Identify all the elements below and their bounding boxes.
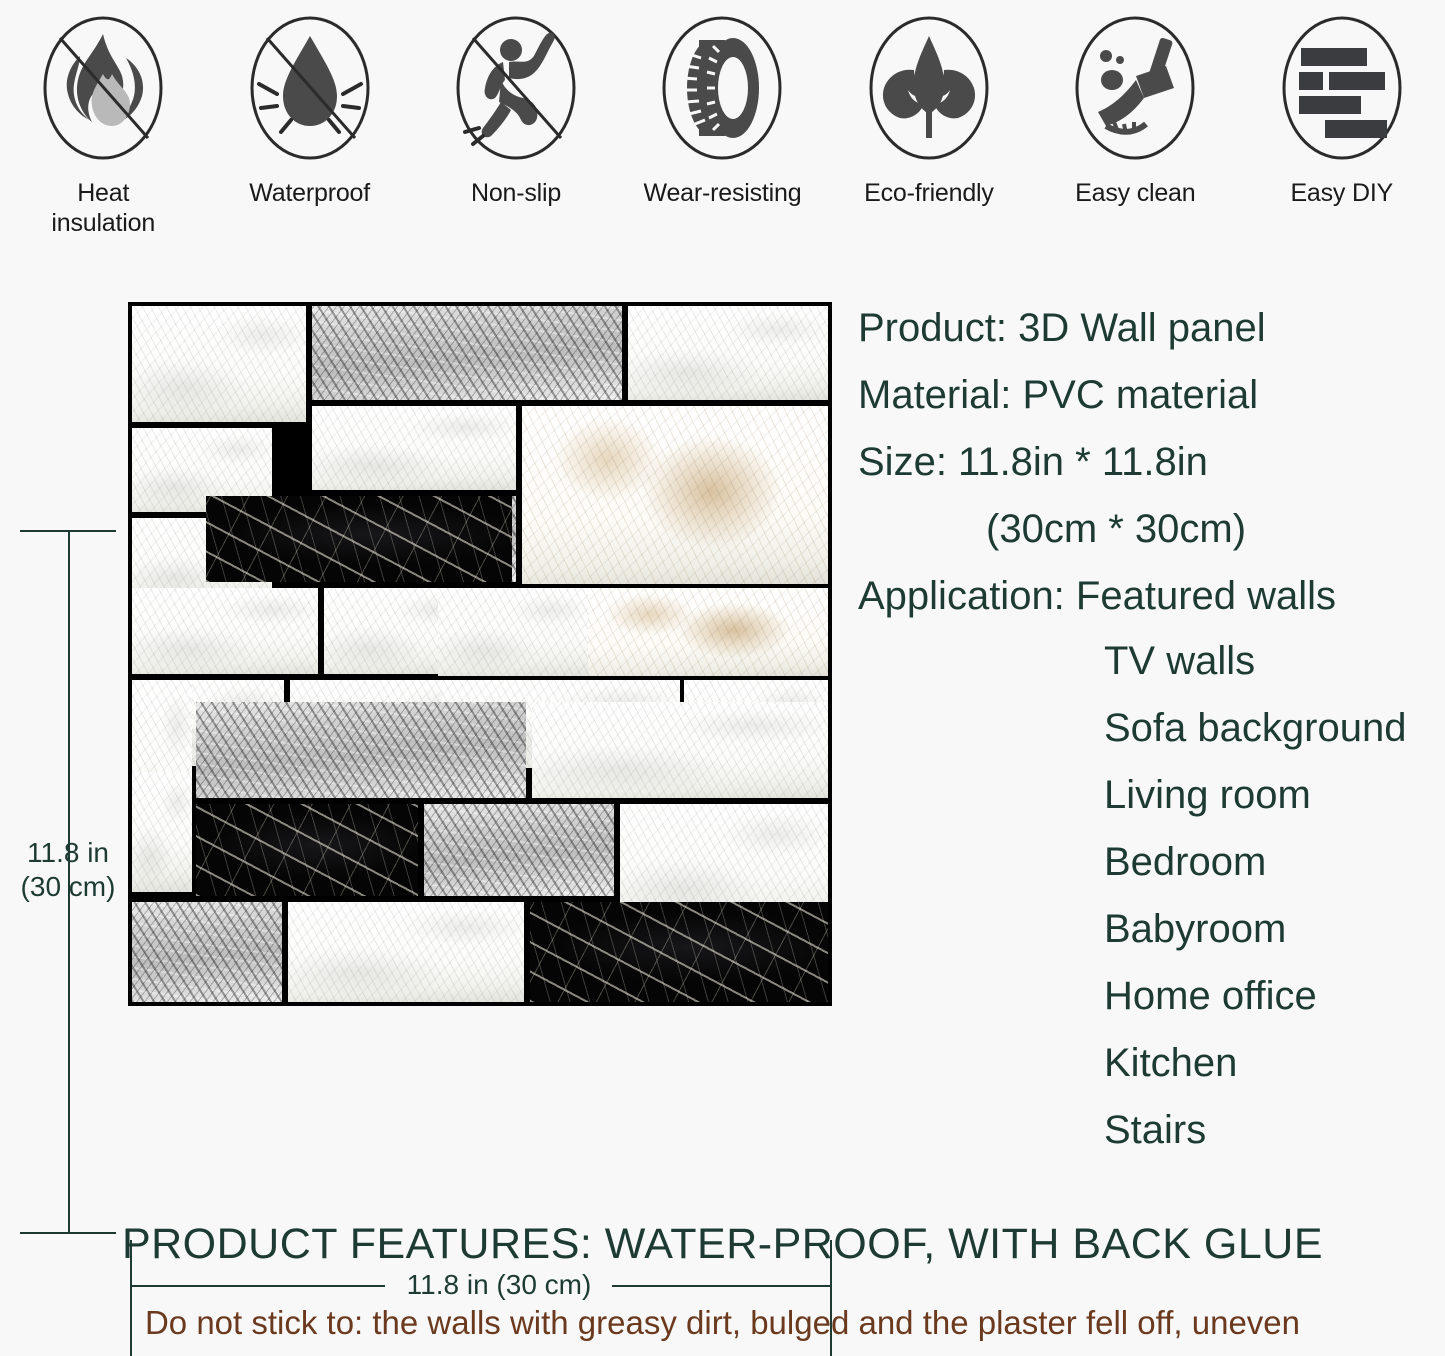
spec-size: Size: 11.8in * 11.8in (858, 429, 1445, 496)
horizontal-dimension-label: 11.8 in (30 cm) (385, 1267, 613, 1303)
feature-item-wear-resisting: Wear-resisting (619, 0, 825, 208)
mosaic-tile (288, 902, 524, 1002)
feature-item-easy-diy: Easy DIY (1239, 0, 1445, 208)
mosaic-tile (132, 588, 318, 674)
vertical-dimension-label: 11.8 in(30 cm) (4, 836, 132, 904)
feature-label: Waterproof (249, 178, 370, 208)
brick-wall-icon (1269, 10, 1415, 170)
tire-icon (649, 10, 795, 170)
mosaic-tile (522, 406, 828, 584)
feature-item-heat-insulation: Heatinsulation (0, 0, 206, 238)
mosaic-tile (530, 902, 828, 1002)
product-features-heading: PRODUCT FEATURES: WATER-PROOF, WITH BACK… (0, 1218, 1445, 1270)
mosaic-tile (580, 588, 828, 676)
mosaic-tile (438, 588, 588, 676)
application-item: Living room (1104, 762, 1406, 829)
product-spec-block: Product: 3D Wall panel Material: PVC mat… (858, 295, 1445, 630)
mosaic-tile (532, 702, 828, 798)
feature-item-easy-clean: Easy clean (1032, 0, 1238, 208)
mosaic-tile (206, 496, 512, 582)
mosaic-tile (196, 804, 418, 896)
application-item: Babyroom (1104, 896, 1406, 963)
horizontal-dimension-line-left (131, 1285, 385, 1287)
spec-material: Material: PVC material (858, 362, 1445, 429)
feature-label: Easy clean (1075, 178, 1195, 208)
product-panel-area: 11.8 in(30 cm) 11.8 in (30 cm) (0, 228, 845, 1148)
no-flame-icon (30, 10, 176, 170)
mosaic-tile (628, 306, 828, 400)
feature-label: Wear-resisting (644, 178, 802, 208)
mosaic-tile (424, 804, 614, 896)
warning-text: Do not stick to: the walls with greasy d… (0, 1302, 1445, 1344)
mosaic-tile (312, 406, 516, 490)
application-list: TV wallsSofa backgroundLiving roomBedroo… (1104, 628, 1406, 1164)
spec-size-metric: (30cm * 30cm) (858, 496, 1445, 563)
application-item: Kitchen (1104, 1030, 1406, 1097)
mosaic-tile (196, 702, 526, 798)
application-item: Bedroom (1104, 829, 1406, 896)
application-item: TV walls (1104, 628, 1406, 695)
horizontal-dimension-line-right (612, 1285, 831, 1287)
feature-label: Eco-friendly (864, 178, 994, 208)
application-item: Sofa background (1104, 695, 1406, 762)
spec-application: Application: Featured walls (858, 563, 1445, 630)
feature-label: Easy DIY (1290, 178, 1393, 208)
mosaic-tile (132, 902, 282, 1002)
vertical-dimension-cap-top (20, 530, 116, 532)
feature-item-non-slip: Non-slip (413, 0, 619, 208)
wall-panel-sample (128, 302, 832, 1006)
application-item: Stairs (1104, 1097, 1406, 1164)
broom-icon (1062, 10, 1208, 170)
mosaic-tile (132, 306, 306, 422)
feature-icon-strip: Heatinsulation Waterproof (0, 0, 1445, 228)
no-slip-person-icon (443, 10, 589, 170)
application-item: Home office (1104, 963, 1406, 1030)
feature-item-eco-friendly: Eco-friendly (826, 0, 1032, 208)
feature-label: Non-slip (471, 178, 561, 208)
leaf-icon (856, 10, 1002, 170)
mosaic-tile (132, 772, 192, 892)
feature-item-waterproof: Waterproof (206, 0, 412, 208)
no-water-drop-icon (237, 10, 383, 170)
spec-product: Product: 3D Wall panel (858, 295, 1445, 362)
mosaic-tile (312, 306, 622, 400)
